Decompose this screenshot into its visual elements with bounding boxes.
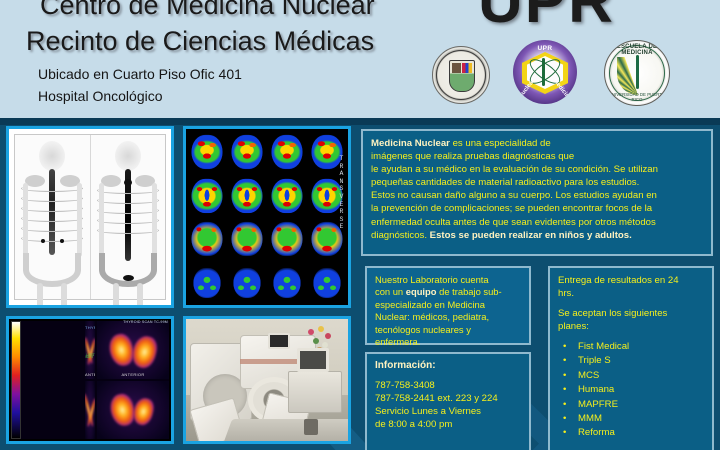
lab-line-4: Nuclear: médicos, pediatra, — [375, 311, 521, 323]
rcm-seal-shield — [449, 60, 475, 92]
list-item: MMM — [558, 412, 704, 426]
thyroid-scan-grid: THYROID LEFT RIGHT ANTERIOR ANTERIOR — [11, 321, 169, 439]
description-bold-lead: Medicina Nuclear — [371, 138, 450, 149]
bone-scan-posterior-view — [15, 135, 90, 299]
nm-seal-caduceus — [542, 58, 545, 86]
flower-bloom — [318, 326, 324, 332]
insurance-plans-list: Fist Medical Triple S MCS Humana MAPFRE … — [558, 340, 704, 441]
bone-scan-hotspot — [123, 275, 134, 281]
description-line-3: le ayudan a su médico en la evaluación d… — [371, 163, 703, 176]
lab-line-1: Nuestro Laboratorio cuenta — [375, 274, 521, 286]
pet-brain-slice — [231, 135, 262, 169]
skeleton-rib — [21, 195, 83, 202]
lab-line-6: enfermera. — [375, 336, 521, 348]
upr-wordmark: UPR — [478, 0, 615, 37]
scanner-control-console — [288, 371, 342, 413]
skeleton-rib — [97, 227, 159, 234]
nuclear-medicine-seal-icon: UPR Nuclear Medicine — [513, 40, 577, 104]
description-line-8-a: diagnósticos. — [371, 230, 430, 241]
thyroid-panel-zoom: ANTERIOR — [97, 321, 169, 379]
bone-scan-anterior-view — [90, 135, 166, 299]
pet-orientation-label: TRANSVERSE — [337, 155, 347, 231]
school-of-medicine-seal-icon: ESCUELA DE MEDICINA UNIVERSIDAD DE PUERT… — [604, 40, 670, 106]
pet-brain-slice — [271, 178, 302, 212]
skeleton-rib — [21, 225, 83, 232]
lab-line-3: especializado en Medicina — [375, 299, 521, 311]
rcm-seal-icon — [432, 46, 490, 104]
flower-bloom — [325, 333, 331, 339]
description-line-2: imágenes que realiza pruebas diagnóstica… — [371, 150, 703, 163]
bone-scan-image — [6, 126, 174, 308]
thyroid-color-scale-1 — [11, 321, 21, 439]
skeleton-skull — [39, 141, 65, 171]
skeleton-arm — [77, 183, 82, 257]
delivery-line-1: Entrega de resultados en 24 — [558, 274, 704, 287]
skeleton-pelvis — [23, 253, 81, 287]
skeleton-rib — [97, 217, 159, 224]
skeleton-rib — [21, 205, 83, 212]
nm-seal-top-text: UPR — [513, 45, 577, 52]
page-title-line2: Recinto de Ciencias Médicas — [26, 26, 374, 57]
console-screen — [297, 348, 329, 372]
description-line-8-b: Estos — [430, 230, 456, 241]
skeleton-rib — [97, 187, 159, 194]
page-title-line1: Centro de Medicina Nuclear — [40, 0, 375, 21]
flower-bloom — [313, 338, 319, 344]
lab-line-2-a: con un — [375, 286, 406, 297]
description-line-6: la prevención de complicaciones; se pued… — [371, 202, 703, 215]
phone-number-1[interactable]: 787-758-3408 — [375, 379, 521, 392]
bone-scan-hotspot — [60, 239, 64, 243]
contact-info-heading: Información: — [375, 360, 521, 371]
thyroid-marker-right: RIGHT — [85, 355, 94, 359]
pet-brain-slice — [271, 222, 302, 256]
bone-scan-hotspot — [124, 179, 132, 186]
skeleton-leg — [137, 283, 143, 308]
description-line-5: Estos no causan daño alguno a su cuerpo.… — [371, 189, 703, 202]
thyroid-panel-oblique-right — [97, 381, 169, 439]
pet-brain-slice — [271, 135, 302, 169]
scanner-patient-table — [220, 419, 351, 444]
list-item: Reforma — [558, 426, 704, 440]
list-item: MAPFRE — [558, 398, 704, 412]
description-line-4: pequeñas cantidades de material radioact… — [371, 176, 703, 189]
skeleton-rib — [97, 207, 159, 214]
skeleton-spine — [49, 169, 55, 255]
skeleton-shoulder — [101, 175, 121, 187]
skeleton-rib — [97, 197, 159, 204]
skeleton-leg — [37, 283, 43, 308]
pet-ct-scanner-photo — [183, 316, 351, 444]
description-panel: Medicina Nuclear es una especialidad de … — [361, 129, 713, 256]
skeleton-arm — [23, 183, 28, 257]
pet-brain-slice — [233, 267, 260, 297]
pet-brain-slice — [313, 267, 340, 297]
lab-line-2-c: de trabajo sub- — [437, 286, 502, 297]
skeleton-leg — [61, 283, 67, 308]
description-line-8: diagnósticos. Estos se pueden realizar e… — [371, 229, 703, 242]
description-line-1: Medicina Nuclear es una especialidad de — [371, 137, 703, 150]
thyroid-caption: THYROID — [85, 325, 95, 330]
skeleton-rib — [21, 215, 83, 222]
waste-bin — [304, 419, 318, 435]
pet-slice-grid — [188, 131, 346, 303]
skeleton-arm — [152, 183, 157, 257]
thyroid-caption: ANTERIOR — [85, 372, 95, 377]
med-seal-bottom-text: UNIVERSIDAD DE PUERTO RICO — [605, 92, 669, 102]
pet-brain-slice — [231, 222, 262, 256]
skeleton-rib — [21, 235, 83, 242]
lab-line-2: con un equipo de trabajo sub- — [375, 286, 521, 298]
pet-brain-scan-image: TRANSVERSE — [183, 126, 351, 308]
service-hours-line-1: Servicio Lunes a Viernes — [375, 405, 521, 418]
insurance-plans-panel: Entrega de resultados en 24 hrs. Se acep… — [548, 266, 714, 450]
poster-root: Centro de Medicina Nuclear Recinto de Ci… — [0, 0, 720, 450]
description-line-1-rest: es una especialidad de — [450, 138, 551, 149]
panel-spacer — [558, 300, 704, 307]
thyroid-caption: ANTERIOR — [97, 372, 169, 377]
contact-info-panel: Información: 787-758-3408 787-758-2441 e… — [365, 352, 531, 450]
laboratory-panel: Nuestro Laboratorio cuenta con un equipo… — [365, 266, 531, 345]
med-seal-top-text: ESCUELA DE MEDICINA — [605, 44, 669, 56]
pet-brain-slice — [191, 135, 222, 169]
skeleton-skull — [115, 141, 141, 171]
flower-bloom — [308, 329, 314, 335]
accepted-plans-line-2: planes: — [558, 320, 704, 333]
header-subtitle-line1: Ubicado en Cuarto Piso Ofic 401 — [38, 66, 242, 82]
list-item: Fist Medical — [558, 340, 704, 354]
thyroid-scan-header-text: THYROID SCAN TC-99M — [123, 320, 168, 324]
pet-brain-slice — [231, 178, 262, 212]
service-hours-line-2: de 8:00 a 4:00 pm — [375, 418, 521, 431]
thyroid-panel-oblique-left — [85, 381, 95, 439]
pet-brain-slice — [193, 267, 220, 297]
delivery-line-2: hrs. — [558, 287, 704, 300]
header-banner: Centro de Medicina Nuclear Recinto de Ci… — [0, 0, 720, 118]
skeleton-pelvis — [99, 253, 157, 287]
list-item: MCS — [558, 369, 704, 383]
lab-line-2-bold: equipo — [406, 286, 437, 297]
skeleton-arm — [99, 183, 104, 257]
description-line-7: enfermedad oculta antes de que sean evid… — [371, 216, 703, 229]
thyroid-scan-image: THYROID SCAN TC-99M THYROID LEFT RIGHT A… — [6, 316, 174, 444]
scanner-wall-monitor — [268, 333, 290, 349]
header-subtitle-line2: Hospital Oncológico — [38, 88, 163, 104]
thyroid-panel-anterior: THYROID LEFT RIGHT ANTERIOR — [85, 321, 95, 379]
skeleton-leg — [113, 283, 119, 308]
accepted-plans-line-1: Se aceptan los siguientes — [558, 307, 704, 320]
pet-brain-slice — [191, 222, 222, 256]
description-line-8-c: se pueden realizar en niños y adultos. — [456, 230, 632, 241]
list-item: Humana — [558, 383, 704, 397]
skeleton-shoulder — [25, 175, 45, 187]
phone-number-2[interactable]: 787-758-2441 ext. 223 y 224 — [375, 392, 521, 405]
bone-scan-hotspot — [41, 239, 45, 243]
med-seal-asclepius-rod — [636, 55, 639, 89]
list-item: Triple S — [558, 354, 704, 368]
lab-line-5: tecnólogos nucleares y — [375, 324, 521, 336]
thyroid-right-lobe — [129, 334, 159, 371]
bone-scan-inner — [14, 134, 166, 300]
pet-brain-slice — [273, 267, 300, 297]
pet-brain-slice — [191, 178, 222, 212]
thyroid-right-lobe — [132, 397, 157, 427]
